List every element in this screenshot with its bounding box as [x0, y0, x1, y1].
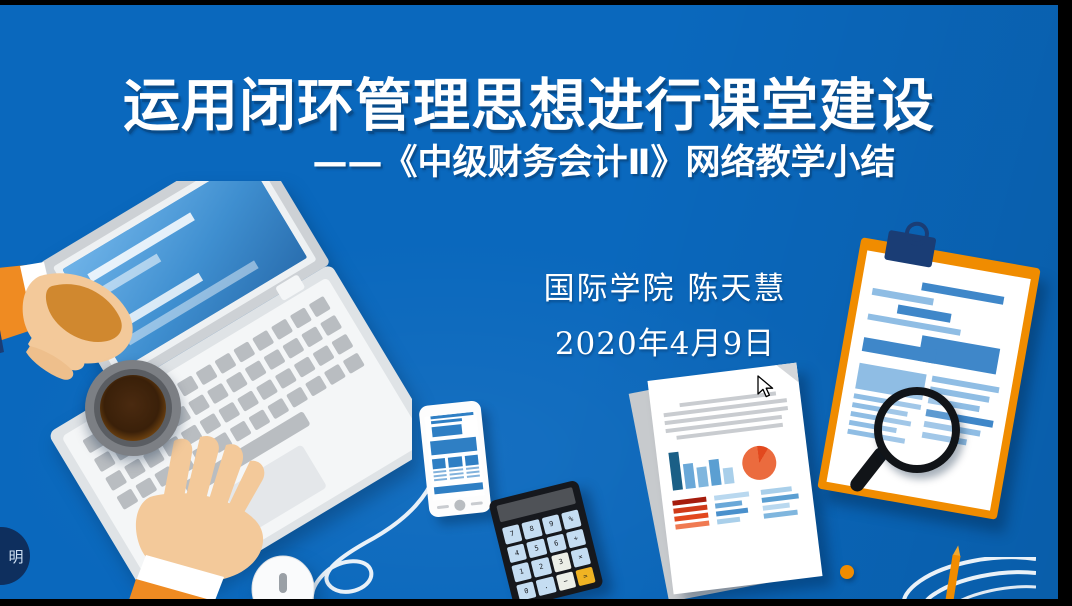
- calc-key: 4: [507, 543, 528, 563]
- hand-bottom-illustration: [100, 435, 315, 599]
- calc-key: 7: [502, 524, 523, 544]
- calc-key: 0: [516, 581, 537, 599]
- calc-key: ÷: [566, 528, 587, 548]
- calc-key: %: [561, 509, 582, 529]
- avatar-label: 明: [0, 546, 24, 567]
- pin-dot-illustration: [840, 565, 854, 579]
- slide-presenter-block: 国际学院 陈天慧 2020年4月9日: [430, 263, 900, 363]
- calc-key: 3: [551, 552, 572, 572]
- document-pie-chart: [740, 444, 778, 482]
- coffee-cup-illustration: [85, 360, 181, 456]
- report-document-illustration: [647, 363, 822, 595]
- calc-key: 9: [541, 514, 562, 534]
- magnifier-icon: [874, 387, 966, 507]
- calc-key: ×: [570, 547, 591, 567]
- presentation-date: 2020年4月9日: [430, 318, 900, 363]
- screen-share-viewport: 7 8 9 % 4 5 6 ÷ 1 2 3 × 0 . − =: [0, 0, 1072, 606]
- slide-title-block: 运用闭环管理思想进行课堂建设 ——《中级财务会计Ⅱ》网络教学小结: [0, 77, 1058, 182]
- calc-key: 8: [522, 519, 543, 539]
- presenter-name: 国际学院 陈天慧: [430, 263, 900, 308]
- slide-main-title: 运用闭环管理思想进行课堂建设: [0, 77, 1058, 137]
- slide-sub-title: ——《中级财务会计Ⅱ》网络教学小结: [0, 144, 1058, 183]
- calc-key: 5: [526, 538, 547, 558]
- calc-key: 1: [511, 562, 532, 582]
- presentation-slide: 7 8 9 % 4 5 6 ÷ 1 2 3 × 0 . − =: [0, 5, 1058, 599]
- calc-key: 6: [546, 533, 567, 553]
- smartphone-illustration: [418, 400, 491, 518]
- calc-key: 2: [531, 557, 552, 577]
- calculator-illustration: 7 8 9 % 4 5 6 ÷ 1 2 3 × 0 . − =: [488, 480, 604, 599]
